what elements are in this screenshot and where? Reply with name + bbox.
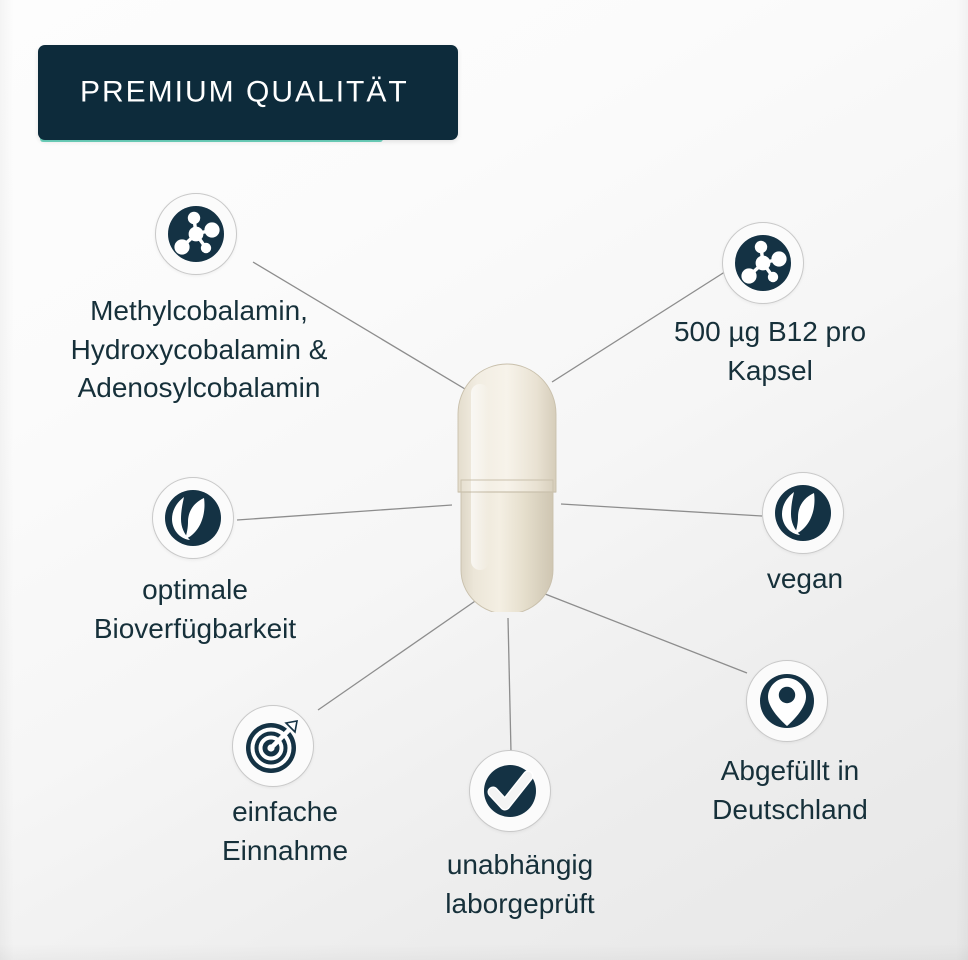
leaf-icon <box>162 487 224 549</box>
molecule-icon <box>732 232 794 294</box>
target-icon-badge <box>232 705 314 787</box>
check-circle-icon-badge <box>469 750 551 832</box>
capsule-image <box>455 362 559 612</box>
molecule-icon-badge-forms <box>155 193 237 275</box>
connector-vegan <box>561 504 762 516</box>
feature-label-forms: Methylcobalamin, Hydroxycobalamin & Aden… <box>14 292 384 408</box>
leaf-icon-badge-bioavailability <box>152 477 234 559</box>
premium-quality-banner: PREMIUM QUALITÄT <box>38 45 458 140</box>
leaf-icon <box>772 482 834 544</box>
target-icon <box>242 715 304 777</box>
feature-label-easy-intake: einfache Einnahme <box>160 793 410 870</box>
location-pin-icon <box>756 670 818 732</box>
feature-label-bioavailability: optimale Bioverfügbarkeit <box>60 571 330 648</box>
feature-label-dosage: 500 µg B12 pro Kapsel <box>625 313 915 390</box>
feature-label-lab-tested: unabhängig laborgeprüft <box>390 846 650 923</box>
connector-lab-tested <box>508 618 511 752</box>
connector-made-in-germany <box>540 592 747 673</box>
banner-title: PREMIUM QUALITÄT <box>80 75 409 109</box>
molecule-icon <box>165 203 227 265</box>
connector-easy-intake <box>318 597 481 710</box>
location-pin-icon-badge <box>746 660 828 742</box>
feature-label-made-in-germany: Abgefüllt in Deutschland <box>665 752 915 829</box>
leaf-icon-badge-vegan <box>762 472 844 554</box>
premium-quality-infographic: PREMIUM QUALITÄT <box>0 0 968 960</box>
feature-label-vegan: vegan <box>700 560 910 599</box>
connector-bioavailability <box>237 505 452 520</box>
check-circle-icon <box>479 760 541 822</box>
molecule-icon-badge-dosage <box>722 222 804 304</box>
